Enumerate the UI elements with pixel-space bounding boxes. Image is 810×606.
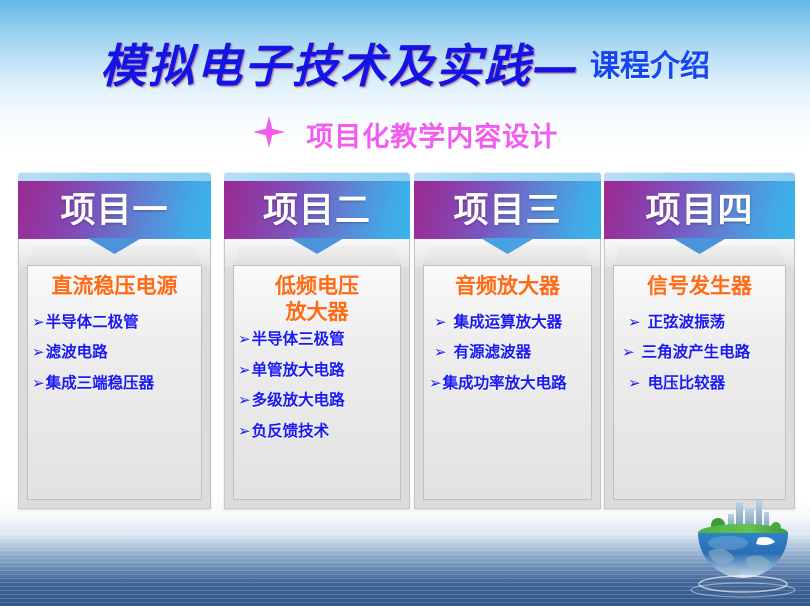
project-1-item-list: ➢半导体二极管 ➢滤波电路 ➢集成三端稳压器 bbox=[32, 314, 197, 393]
project-4-banner[interactable]: 项目四 bbox=[604, 172, 795, 239]
project-2-card[interactable]: 低频电压 放大器 ➢半导体三极管 ➢单管放大电路 ➢多级放大电路 ➢负反馈技术 bbox=[224, 237, 410, 509]
list-item-label: 三角波产生电路 bbox=[642, 344, 751, 361]
project-1-title: 直流稳压电源 bbox=[32, 274, 197, 300]
subtitle-label: 项目化教学内容设计 bbox=[306, 122, 558, 152]
list-item: ➢单管放大电路 bbox=[238, 362, 396, 380]
list-item: ➢半导体二极管 bbox=[32, 314, 197, 332]
project-column-3[interactable]: 项目三 音频放大器 ➢集成运算放大器 ➢有源滤波器 ➢集成功率放大电路 bbox=[414, 172, 601, 509]
list-item-label: 有源滤波器 bbox=[454, 344, 532, 361]
list-item-label: 电压比较器 bbox=[648, 375, 726, 392]
arrow-bullet-icon: ➢ bbox=[628, 314, 641, 331]
list-item: ➢多级放大电路 bbox=[238, 392, 396, 410]
four-point-star-icon bbox=[252, 115, 286, 154]
list-item: ➢负反馈技术 bbox=[238, 423, 396, 441]
project-4-item-list: ➢正弦波振荡 ➢三角波产生电路 ➢电压比较器 bbox=[618, 314, 781, 393]
project-column-2[interactable]: 项目二 低频电压 放大器 ➢半导体三极管 ➢单管放大电路 ➢多级放大电路 ➢负反… bbox=[224, 172, 410, 509]
arrow-bullet-icon: ➢ bbox=[32, 314, 45, 331]
arrow-bullet-icon: ➢ bbox=[238, 362, 251, 379]
slide-canvas: 模拟电子技术及实践—课程介绍 项目化教学内容设计 项目一 直流稳压电源 bbox=[0, 0, 810, 606]
project-3-banner[interactable]: 项目三 bbox=[414, 172, 601, 239]
list-item-label: 集成三端稳压器 bbox=[46, 375, 155, 392]
arrow-bullet-icon: ➢ bbox=[622, 344, 635, 361]
project-column-4[interactable]: 项目四 信号发生器 ➢正弦波振荡 ➢三角波产生电路 ➢电压比较器 bbox=[604, 172, 795, 509]
project-2-title: 低频电压 放大器 bbox=[238, 274, 396, 325]
arrow-bullet-icon: ➢ bbox=[238, 423, 251, 440]
arrow-bullet-icon: ➢ bbox=[32, 375, 45, 392]
project-3-title: 音频放大器 bbox=[428, 274, 587, 300]
subtitle: 项目化教学内容设计 bbox=[0, 115, 810, 154]
banner-top-strip bbox=[604, 172, 795, 181]
page-title-plain: 课程介绍 bbox=[590, 50, 710, 83]
list-item-label: 多级放大电路 bbox=[252, 392, 345, 409]
list-item: ➢有源滤波器 bbox=[434, 344, 587, 362]
arrow-bullet-icon: ➢ bbox=[32, 344, 45, 361]
list-item: ➢电压比较器 bbox=[628, 375, 781, 393]
list-item: ➢半导体三极管 bbox=[238, 331, 396, 349]
project-4-banner-label: 项目四 bbox=[645, 193, 753, 228]
project-2-card-body: 低频电压 放大器 ➢半导体三极管 ➢单管放大电路 ➢多级放大电路 ➢负反馈技术 bbox=[233, 265, 401, 500]
project-4-card-body: 信号发生器 ➢正弦波振荡 ➢三角波产生电路 ➢电压比较器 bbox=[613, 265, 786, 500]
banner-top-strip bbox=[414, 172, 601, 181]
list-item-label: 集成运算放大器 bbox=[454, 314, 563, 331]
project-1-card-body: 直流稳压电源 ➢半导体二极管 ➢滤波电路 ➢集成三端稳压器 bbox=[27, 265, 202, 500]
page-title: 模拟电子技术及实践—课程介绍 bbox=[0, 30, 810, 96]
list-item-label: 单管放大电路 bbox=[252, 362, 345, 379]
project-column-1[interactable]: 项目一 直流稳压电源 ➢半导体二极管 ➢滤波电路 ➢集成三端稳压器 bbox=[18, 172, 211, 509]
project-4-card[interactable]: 信号发生器 ➢正弦波振荡 ➢三角波产生电路 ➢电压比较器 bbox=[604, 237, 795, 509]
list-item: ➢集成三端稳压器 bbox=[32, 375, 197, 393]
project-3-card[interactable]: 音频放大器 ➢集成运算放大器 ➢有源滤波器 ➢集成功率放大电路 bbox=[414, 237, 601, 509]
list-item-label: 半导体三极管 bbox=[252, 331, 345, 348]
project-1-banner[interactable]: 项目一 bbox=[18, 172, 211, 239]
banner-top-strip bbox=[224, 172, 410, 181]
list-item-label: 半导体二极管 bbox=[46, 314, 139, 331]
arrow-bullet-icon: ➢ bbox=[238, 392, 251, 409]
list-item-label: 集成功率放大电路 bbox=[443, 375, 567, 392]
project-4-title: 信号发生器 bbox=[618, 274, 781, 300]
arrow-bullet-icon: ➢ bbox=[434, 344, 447, 361]
list-item: ➢滤波电路 bbox=[32, 344, 197, 362]
arrow-bullet-icon: ➢ bbox=[429, 375, 442, 392]
project-3-banner-label: 项目三 bbox=[453, 193, 561, 228]
project-3-item-list: ➢集成运算放大器 ➢有源滤波器 ➢集成功率放大电路 bbox=[428, 314, 587, 393]
page-title-calligraphic: 模拟电子技术及实践— bbox=[100, 39, 580, 93]
arrow-bullet-icon: ➢ bbox=[434, 314, 447, 331]
list-item: ➢集成运算放大器 bbox=[434, 314, 587, 332]
project-columns: 项目一 直流稳压电源 ➢半导体二极管 ➢滤波电路 ➢集成三端稳压器 bbox=[0, 172, 810, 512]
project-2-title-line-2: 放大器 bbox=[238, 300, 396, 326]
project-1-card[interactable]: 直流稳压电源 ➢半导体二极管 ➢滤波电路 ➢集成三端稳压器 bbox=[18, 237, 211, 509]
project-2-item-list: ➢半导体三极管 ➢单管放大电路 ➢多级放大电路 ➢负反馈技术 bbox=[238, 331, 396, 440]
globe-earth-icon bbox=[684, 498, 802, 598]
banner-top-strip bbox=[18, 172, 211, 181]
list-item: ➢正弦波振荡 bbox=[628, 314, 781, 332]
list-item-label: 正弦波振荡 bbox=[648, 314, 726, 331]
project-2-banner[interactable]: 项目二 bbox=[224, 172, 410, 239]
list-item-label: 负反馈技术 bbox=[252, 423, 330, 440]
project-2-title-line-1: 低频电压 bbox=[238, 274, 396, 300]
project-1-banner-label: 项目一 bbox=[60, 193, 168, 228]
list-item: ➢集成功率放大电路 bbox=[429, 375, 587, 393]
list-item: ➢三角波产生电路 bbox=[622, 344, 781, 362]
list-item-label: 滤波电路 bbox=[46, 344, 108, 361]
project-3-card-body: 音频放大器 ➢集成运算放大器 ➢有源滤波器 ➢集成功率放大电路 bbox=[423, 265, 592, 500]
arrow-bullet-icon: ➢ bbox=[628, 375, 641, 392]
arrow-bullet-icon: ➢ bbox=[238, 331, 251, 348]
project-2-banner-label: 项目二 bbox=[263, 193, 371, 228]
